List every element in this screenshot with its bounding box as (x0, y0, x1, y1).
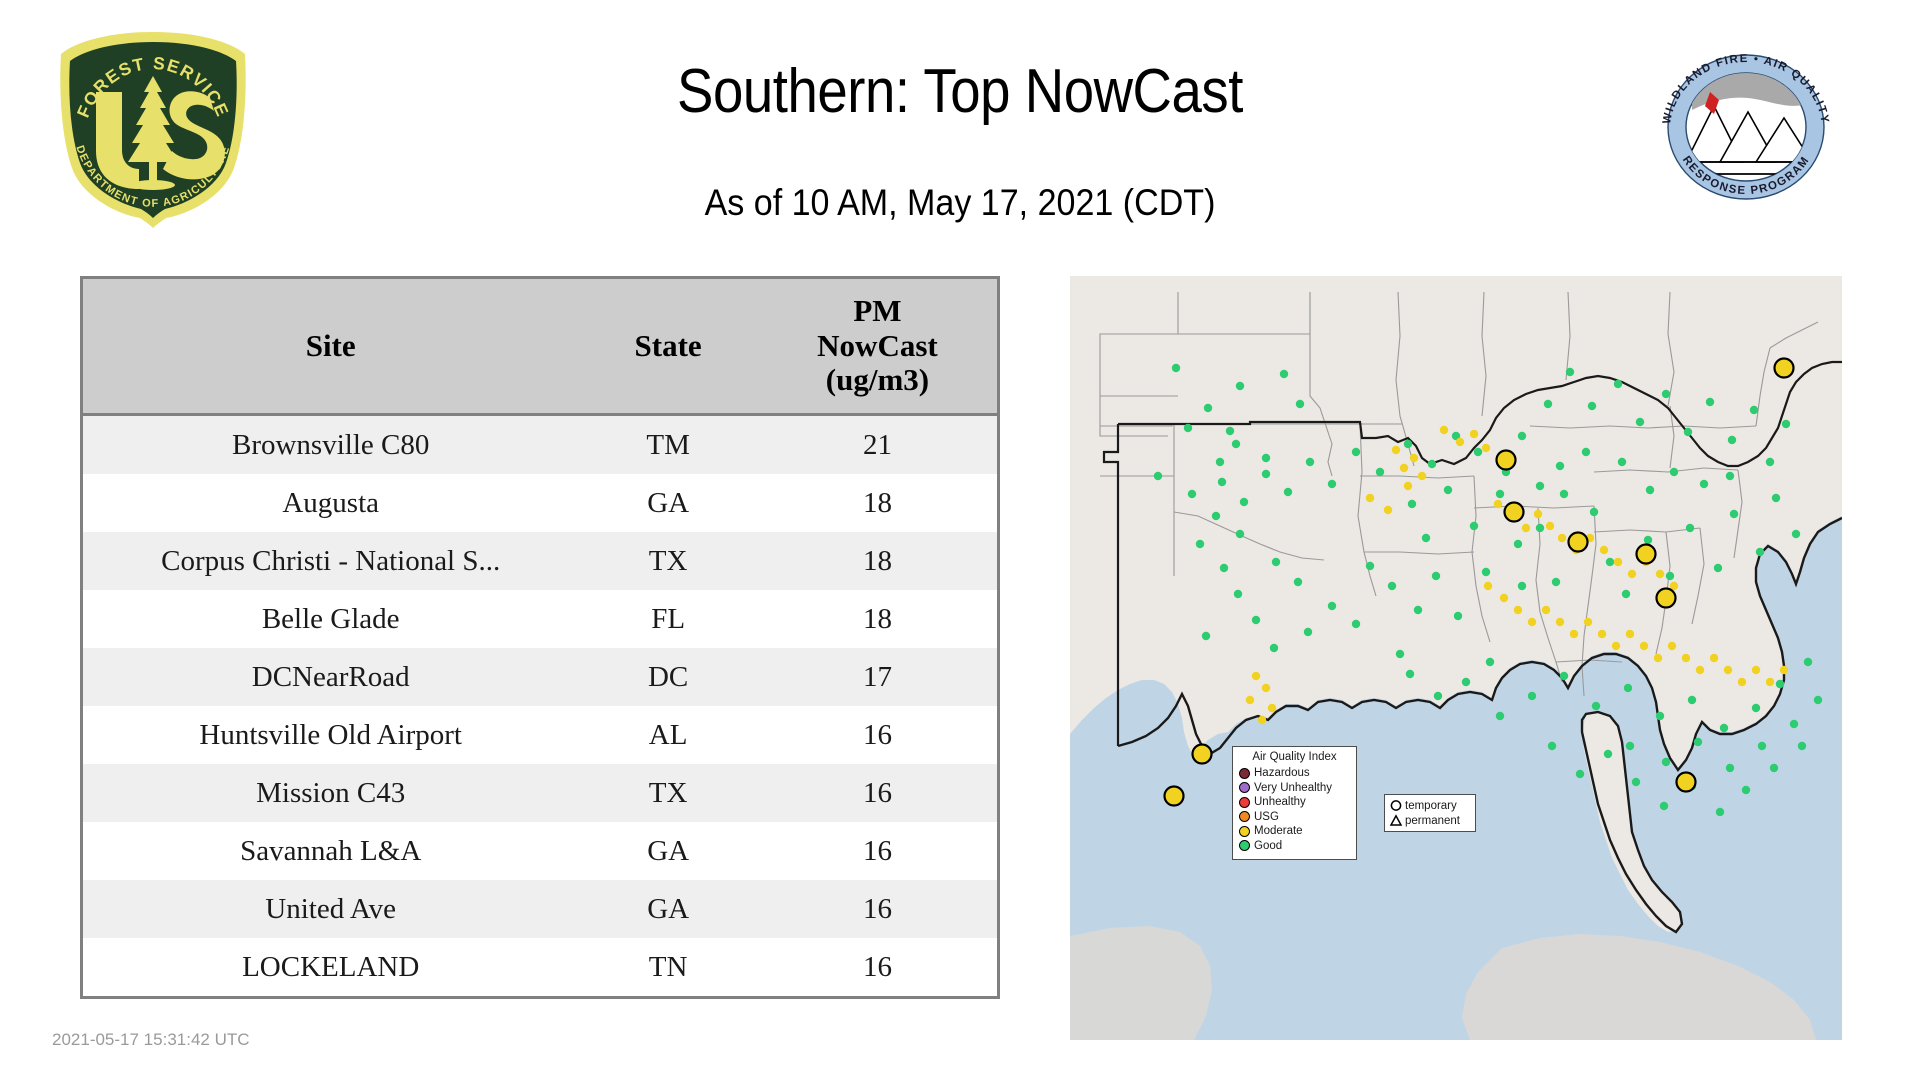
monitor-dot-good (1556, 462, 1564, 470)
map-canvas (1070, 276, 1842, 1040)
monitor-dot-good (1328, 480, 1336, 488)
monitor-dot-moderate (1268, 704, 1276, 712)
monitor-dot-good (1212, 512, 1220, 520)
table-cell-value: 17 (758, 648, 997, 706)
monitor-dot-good (1606, 558, 1614, 566)
table-cell-state: TN (578, 938, 758, 996)
monitor-dot-top-site[interactable] (1657, 589, 1676, 608)
table-cell-site: Brownsville C80 (83, 415, 578, 475)
monitor-dot-good (1804, 658, 1812, 666)
monitor-dot-good (1726, 764, 1734, 772)
aqi-legend-swatch (1239, 797, 1250, 808)
aqi-legend-swatch (1239, 768, 1250, 779)
monitor-dot-good (1536, 524, 1544, 532)
table-row: Huntsville Old AirportAL16 (83, 706, 997, 764)
monitor-dot-good (1536, 482, 1544, 490)
monitor-dot-good (1798, 742, 1806, 750)
monitor-dot-good (1196, 540, 1204, 548)
monitor-dot-top-site[interactable] (1505, 503, 1524, 522)
monitor-dot-good (1172, 364, 1180, 372)
table-row: DCNearRoadDC17 (83, 648, 997, 706)
table-cell-site: Mission C43 (83, 764, 578, 822)
monitor-dot-good (1528, 692, 1536, 700)
table-row: Mission C43TX16 (83, 764, 997, 822)
column-header-state: State (578, 279, 758, 415)
monitor-dot-good (1776, 680, 1784, 688)
monitor-dot-moderate (1600, 546, 1608, 554)
monitor-dot-good (1352, 448, 1360, 456)
monitor-dot-good (1662, 390, 1670, 398)
table-cell-value: 18 (758, 590, 997, 648)
monitor-dot-moderate (1612, 642, 1620, 650)
aqi-legend-swatch (1239, 826, 1250, 837)
monitor-dot-good (1716, 808, 1724, 816)
monitor-dot-good (1766, 458, 1774, 466)
aqi-legend-swatch (1239, 811, 1250, 822)
monitor-dot-good (1216, 458, 1224, 466)
monitor-dot-good (1328, 602, 1336, 610)
monitor-dot-good (1396, 650, 1404, 658)
monitor-dot-moderate (1556, 618, 1564, 626)
symbol-legend-label-temporary: temporary (1405, 800, 1457, 812)
monitor-dot-good (1404, 440, 1412, 448)
monitor-dot-good (1618, 458, 1626, 466)
monitor-dot-moderate (1614, 558, 1622, 566)
monitor-dot-good (1700, 480, 1708, 488)
monitor-dot-good (1730, 510, 1738, 518)
monitor-dot-good (1552, 578, 1560, 586)
table-cell-state: GA (578, 880, 758, 938)
table-cell-state: GA (578, 822, 758, 880)
table-cell-state: TM (578, 415, 758, 475)
monitor-dot-good (1444, 486, 1452, 494)
monitor-dot-good (1232, 440, 1240, 448)
monitor-dot-good (1758, 742, 1766, 750)
column-header-pm-line2: NowCast (817, 328, 938, 363)
monitor-dot-moderate (1400, 464, 1408, 472)
monitor-dot-moderate (1384, 506, 1392, 514)
monitor-dot-moderate (1494, 500, 1502, 508)
monitor-dot-moderate (1766, 678, 1774, 686)
table-cell-site: Corpus Christi - National S... (83, 532, 578, 590)
monitor-dot-good (1560, 672, 1568, 680)
monitor-dot-moderate (1640, 642, 1648, 650)
monitor-dot-good (1432, 572, 1440, 580)
monitor-dot-good (1486, 658, 1494, 666)
table-row: Brownsville C80TM21 (83, 415, 997, 475)
table-cell-site: Huntsville Old Airport (83, 706, 578, 764)
monitor-dot-good (1662, 758, 1670, 766)
monitor-dot-good (1422, 534, 1430, 542)
monitor-dot-good (1660, 802, 1668, 810)
monitor-dot-moderate (1392, 446, 1400, 454)
monitor-dot-top-site[interactable] (1497, 451, 1516, 470)
monitor-dot-moderate (1456, 438, 1464, 446)
symbol-legend-row-temporary: temporary (1389, 798, 1471, 813)
monitor-dot-moderate (1528, 618, 1536, 626)
table-cell-state: AL (578, 706, 758, 764)
table-cell-state: GA (578, 474, 758, 532)
monitor-dot-good (1614, 380, 1622, 388)
table-cell-value: 21 (758, 415, 997, 475)
monitor-dot-good (1352, 620, 1360, 628)
monitor-dot-top-site[interactable] (1193, 745, 1212, 764)
table-row: AugustaGA18 (83, 474, 997, 532)
permanent-triangle-icon (1389, 814, 1403, 827)
table-row: United AveGA16 (83, 880, 997, 938)
table-cell-site: Belle Glade (83, 590, 578, 648)
aqi-legend-row: Unhealthy (1239, 795, 1350, 810)
monitor-dot-good (1406, 670, 1414, 678)
monitor-dot-good (1644, 536, 1652, 544)
monitor-dot-good (1204, 404, 1212, 412)
monitor-dot-good (1220, 564, 1228, 572)
aqi-legend-label: USG (1254, 811, 1279, 823)
table-cell-value: 16 (758, 764, 997, 822)
footer-timestamp: 2021-05-17 15:31:42 UTC (52, 1030, 250, 1050)
monitor-dot-good (1236, 530, 1244, 538)
monitor-dot-moderate (1710, 654, 1718, 662)
monitor-dot-good (1756, 548, 1764, 556)
monitor-dot-good (1742, 786, 1750, 794)
monitor-dot-good (1750, 406, 1758, 414)
monitor-dot-good (1592, 702, 1600, 710)
aqi-legend-swatch (1239, 782, 1250, 793)
monitor-dot-moderate (1470, 430, 1478, 438)
monitor-dot-good (1376, 468, 1384, 476)
monitor-dot-moderate (1598, 630, 1606, 638)
monitor-dot-good (1434, 692, 1442, 700)
monitor-dot-good (1714, 564, 1722, 572)
monitor-dot-good (1304, 628, 1312, 636)
monitor-dot-good (1470, 522, 1478, 530)
monitor-dot-good (1252, 616, 1260, 624)
monitor-dot-moderate (1570, 630, 1578, 638)
monitor-dot-good (1462, 678, 1470, 686)
table-cell-site: DCNearRoad (83, 648, 578, 706)
monitor-dot-good (1482, 568, 1490, 576)
aqi-legend-row: Hazardous (1239, 766, 1350, 781)
column-header-pm-line3: (ug/m3) (826, 362, 929, 397)
monitor-dot-good (1790, 720, 1798, 728)
aqi-legend-row: Good (1239, 839, 1350, 854)
aqi-legend: Air Quality Index HazardousVery Unhealth… (1232, 746, 1357, 860)
aqi-legend-row: Very Unhealthy (1239, 781, 1350, 796)
table-cell-value: 16 (758, 706, 997, 764)
monitor-dot-top-site[interactable] (1677, 773, 1696, 792)
monitor-dot-good (1770, 764, 1778, 772)
monitor-dot-moderate (1656, 570, 1664, 578)
table-row: Corpus Christi - National S...TX18 (83, 532, 997, 590)
monitor-dot-good (1454, 612, 1462, 620)
aqi-legend-row: Moderate (1239, 824, 1350, 839)
monitor-dot-moderate (1366, 494, 1374, 502)
monitor-dot-good (1706, 398, 1714, 406)
monitor-dot-good (1280, 370, 1288, 378)
monitor-dot-good (1514, 540, 1522, 548)
table-cell-state: DC (578, 648, 758, 706)
monitor-dot-good (1624, 684, 1632, 692)
monitor-dot-good (1646, 486, 1654, 494)
table-row: Savannah L&AGA16 (83, 822, 997, 880)
monitor-dot-good (1588, 402, 1596, 410)
nowcast-table: Site State PM NowCast (ug/m3) Brownsvill… (80, 276, 1000, 999)
monitor-dot-good (1636, 418, 1644, 426)
monitor-dot-moderate (1404, 482, 1412, 490)
monitor-dot-good (1496, 490, 1504, 498)
temporary-circle-icon (1389, 799, 1403, 812)
monitor-dot-good (1270, 644, 1278, 652)
table-header-row: Site State PM NowCast (ug/m3) (83, 279, 997, 415)
table-cell-value: 16 (758, 880, 997, 938)
monitor-dot-moderate (1410, 454, 1418, 462)
aqi-legend-label: Good (1254, 840, 1282, 852)
monitor-dot-good (1496, 712, 1504, 720)
monitor-dot-good (1694, 738, 1702, 746)
aqi-legend-swatch (1239, 840, 1250, 851)
monitor-dot-good (1686, 524, 1694, 532)
table-cell-state: TX (578, 532, 758, 590)
monitor-dot-moderate (1522, 524, 1530, 532)
monitor-dot-good (1560, 490, 1568, 498)
monitor-dot-good (1544, 400, 1552, 408)
monitor-dot-good (1782, 420, 1790, 428)
monitor-dot-good (1720, 724, 1728, 732)
monitor-dot-top-site[interactable] (1775, 359, 1794, 378)
monitor-dot-top-site[interactable] (1637, 545, 1656, 564)
monitor-dot-moderate (1246, 696, 1254, 704)
aqi-legend-title: Air Quality Index (1239, 751, 1350, 763)
monitor-dot-moderate (1724, 666, 1732, 674)
symbol-legend-row-permanent: permanent (1389, 813, 1471, 828)
monitor-dot-good (1604, 750, 1612, 758)
monitor-dot-good (1306, 458, 1314, 466)
table-cell-site: Augusta (83, 474, 578, 532)
monitor-dot-good (1622, 590, 1630, 598)
monitor-dot-good (1566, 368, 1574, 376)
monitor-dot-good (1236, 382, 1244, 390)
monitor-dot-good (1632, 778, 1640, 786)
monitor-dot-top-site[interactable] (1165, 787, 1184, 806)
monitor-dot-good (1154, 472, 1162, 480)
monitor-dot-good (1414, 606, 1422, 614)
aqi-legend-label: Moderate (1254, 825, 1303, 837)
monitor-dot-good (1772, 494, 1780, 502)
page-title: Southern: Top NowCast (115, 56, 1805, 127)
monitor-dot-good (1284, 488, 1292, 496)
monitor-dot-good (1518, 582, 1526, 590)
monitor-dot-good (1666, 572, 1674, 580)
table-cell-value: 16 (758, 938, 997, 996)
monitor-dot-moderate (1584, 618, 1592, 626)
monitor-dot-good (1576, 770, 1584, 778)
aqi-legend-label: Unhealthy (1254, 796, 1306, 808)
monitor-dot-good (1626, 742, 1634, 750)
monitor-dot-good (1218, 478, 1226, 486)
monitor-dot-good (1272, 558, 1280, 566)
page-subtitle: As of 10 AM, May 17, 2021 (CDT) (77, 182, 1843, 224)
monitor-dot-moderate (1628, 570, 1636, 578)
monitor-dot-moderate (1752, 666, 1760, 674)
table-row: LOCKELANDTN16 (83, 938, 997, 996)
monitor-dot-good (1656, 712, 1664, 720)
monitor-dot-good (1234, 590, 1242, 598)
monitor-dot-moderate (1482, 444, 1490, 452)
monitor-dot-moderate (1668, 642, 1676, 650)
monitor-dot-moderate (1654, 654, 1662, 662)
monitor-dot-good (1184, 424, 1192, 432)
map-yucatan-land (1070, 926, 1212, 1040)
table-cell-site: Savannah L&A (83, 822, 578, 880)
monitor-dot-top-site[interactable] (1569, 533, 1588, 552)
monitor-dot-good (1262, 470, 1270, 478)
monitor-dot-good (1294, 578, 1302, 586)
monitor-dot-good (1366, 562, 1374, 570)
monitor-dot-good (1296, 400, 1304, 408)
monitor-dot-moderate (1682, 654, 1690, 662)
monitor-dot-moderate (1738, 678, 1746, 686)
symbol-legend-label-permanent: permanent (1405, 815, 1460, 827)
monitor-dot-good (1814, 696, 1822, 704)
monitor-dot-good (1582, 448, 1590, 456)
monitor-dot-good (1684, 428, 1692, 436)
monitor-dot-good (1408, 500, 1416, 508)
monitor-dot-good (1688, 696, 1696, 704)
monitor-dot-good (1240, 498, 1248, 506)
monitor-dot-moderate (1542, 606, 1550, 614)
monitor-dot-good (1388, 582, 1396, 590)
table-row: Belle GladeFL18 (83, 590, 997, 648)
monitor-dot-good (1428, 460, 1436, 468)
column-header-pm-line1: PM (853, 293, 901, 328)
monitor-dot-good (1262, 454, 1270, 462)
monitor-dot-moderate (1514, 606, 1522, 614)
monitor-dot-moderate (1500, 594, 1508, 602)
monitor-dot-moderate (1534, 510, 1542, 518)
monitor-dot-good (1590, 508, 1598, 516)
monitor-dot-moderate (1626, 630, 1634, 638)
monitor-dot-moderate (1484, 582, 1492, 590)
column-header-pm-nowcast: PM NowCast (ug/m3) (758, 279, 997, 415)
monitor-dot-moderate (1696, 666, 1704, 674)
symbol-legend: temporary permanent (1384, 794, 1476, 832)
table-cell-value: 18 (758, 532, 997, 590)
monitor-dot-moderate (1780, 666, 1788, 674)
monitor-dot-moderate (1440, 426, 1448, 434)
monitor-dot-good (1226, 427, 1234, 435)
monitor-dot-moderate (1558, 534, 1566, 542)
table-cell-state: TX (578, 764, 758, 822)
monitor-dot-good (1670, 468, 1678, 476)
column-header-site: Site (83, 279, 578, 415)
aqi-legend-label: Hazardous (1254, 767, 1310, 779)
monitor-dot-good (1752, 704, 1760, 712)
monitor-dot-good (1202, 632, 1210, 640)
table-cell-site: LOCKELAND (83, 938, 578, 996)
air-quality-map[interactable]: Air Quality Index HazardousVery Unhealth… (1070, 276, 1842, 1040)
monitor-dot-moderate (1262, 684, 1270, 692)
monitor-dot-good (1792, 530, 1800, 538)
monitor-dot-good (1474, 448, 1482, 456)
table-cell-value: 18 (758, 474, 997, 532)
monitor-dot-good (1518, 432, 1526, 440)
table-cell-site: United Ave (83, 880, 578, 938)
table-cell-state: FL (578, 590, 758, 648)
monitor-dot-moderate (1252, 672, 1260, 680)
monitor-dot-moderate (1418, 472, 1426, 480)
monitor-dot-moderate (1546, 522, 1554, 530)
monitor-dot-good (1726, 472, 1734, 480)
monitor-dot-good (1188, 490, 1196, 498)
aqi-legend-row: USG (1239, 810, 1350, 825)
monitor-dot-good (1728, 436, 1736, 444)
aqi-legend-label: Very Unhealthy (1254, 782, 1332, 794)
monitor-dot-good (1548, 742, 1556, 750)
table-cell-value: 16 (758, 822, 997, 880)
monitor-dot-moderate (1258, 716, 1266, 724)
